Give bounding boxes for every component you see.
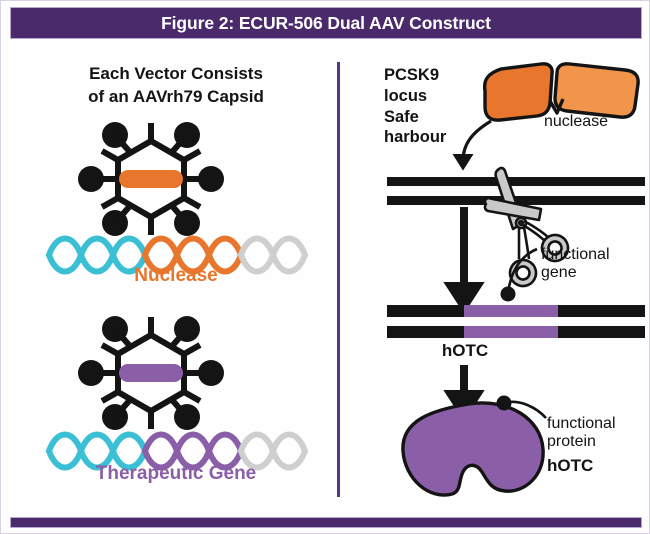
hotc-insert-top [464,305,558,317]
protein-blob-icon [403,403,543,495]
protein-hotc-label: hOTC [547,456,593,476]
functional-protein-dot [497,396,512,411]
figure-bottom-bar [10,517,642,528]
nuclease-protein-icon [485,64,639,120]
dna-strand-top [387,177,645,186]
dna-duplex-edited [387,305,645,338]
nuclease-lobe-left [485,64,553,120]
hotc-gene-label: hOTC [381,341,549,361]
pcsk9-locus-label: PCSK9 locus Safe harbour [384,65,446,148]
nuclease-protein-label: nuclease [544,113,608,131]
nuclease-lobe-right [555,64,638,117]
hotc-insert-bottom [464,326,558,338]
functional-gene-label: functional gene [541,246,610,282]
arrow-down-curved-icon [463,121,491,161]
figure-container: Figure 2: ECUR-506 Dual AAV Construct Ea… [0,0,650,534]
functional-protein-label: functional protein [547,415,616,451]
functional-gene-dot [501,287,516,302]
